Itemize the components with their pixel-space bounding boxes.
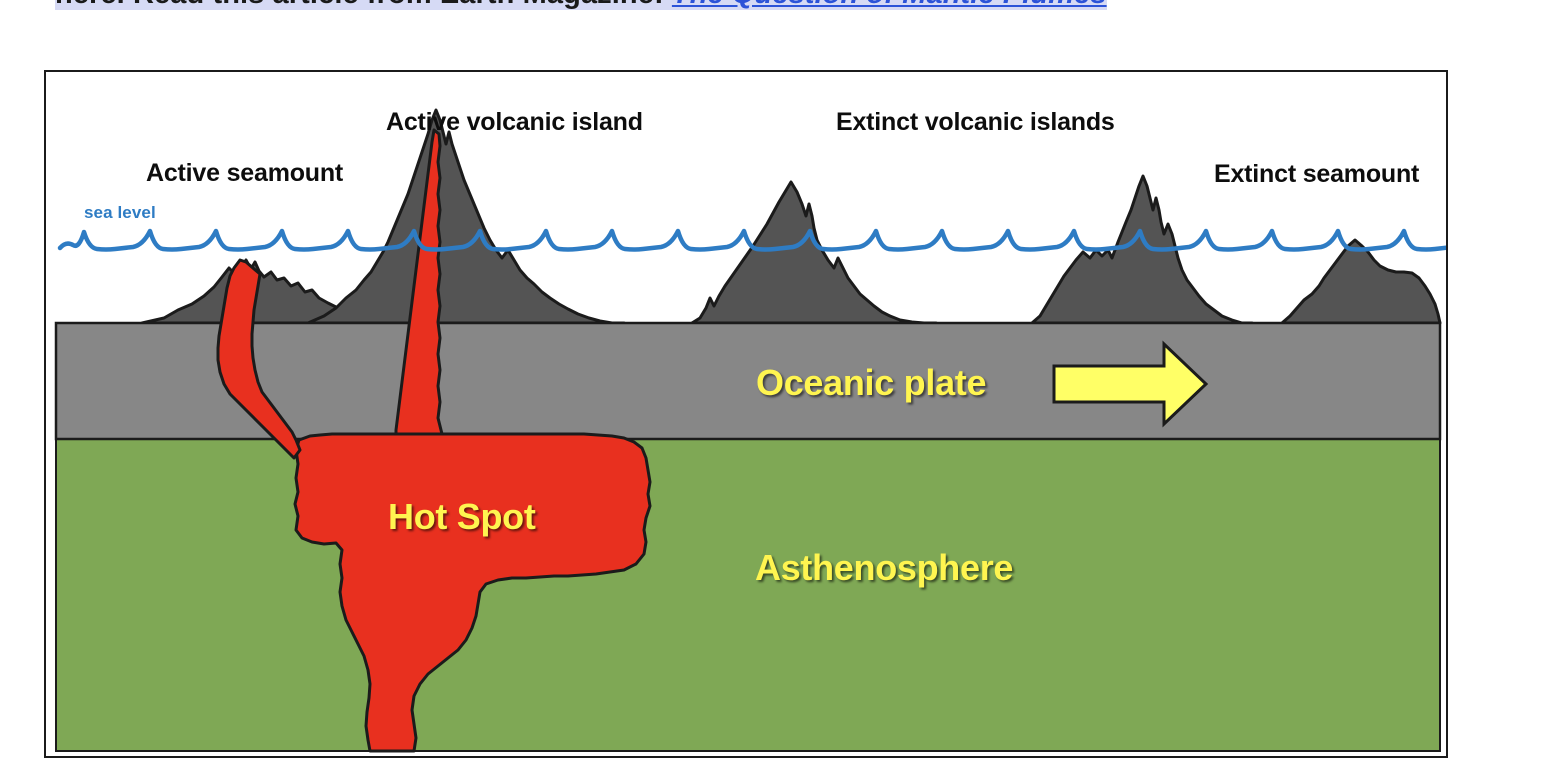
document-text-prefix: here. Read this article from Earth Magaz… bbox=[55, 0, 672, 10]
document-text-line: here. Read this article from Earth Magaz… bbox=[55, 0, 1107, 11]
label-sea-level: sea level bbox=[84, 203, 156, 223]
sea-level-line bbox=[60, 231, 1446, 250]
label-extinct-volcanic-islands: Extinct volcanic islands bbox=[836, 108, 1115, 137]
active-volcanic-island-shape bbox=[308, 110, 624, 323]
extinct-seamount-shape bbox=[1282, 240, 1440, 323]
hotspot-diagram: Active seamount Active volcanic island E… bbox=[44, 70, 1448, 758]
document-text-strip: here. Read this article from Earth Magaz… bbox=[0, 0, 1560, 20]
asthenosphere-layer bbox=[56, 439, 1440, 751]
volcanic-edifices bbox=[142, 110, 1440, 323]
label-active-seamount: Active seamount bbox=[146, 159, 343, 188]
extinct-volcanic-island-large-shape bbox=[692, 182, 936, 323]
label-asthenosphere: Asthenosphere bbox=[755, 547, 1013, 589]
label-oceanic-plate: Oceanic plate bbox=[756, 362, 986, 404]
mantle-plumes-link[interactable]: The Question of Mantle Plumes bbox=[672, 0, 1107, 10]
label-hot-spot: Hot Spot bbox=[388, 496, 536, 538]
label-extinct-seamount: Extinct seamount bbox=[1214, 160, 1419, 189]
label-active-volcanic-island: Active volcanic island bbox=[386, 108, 643, 137]
